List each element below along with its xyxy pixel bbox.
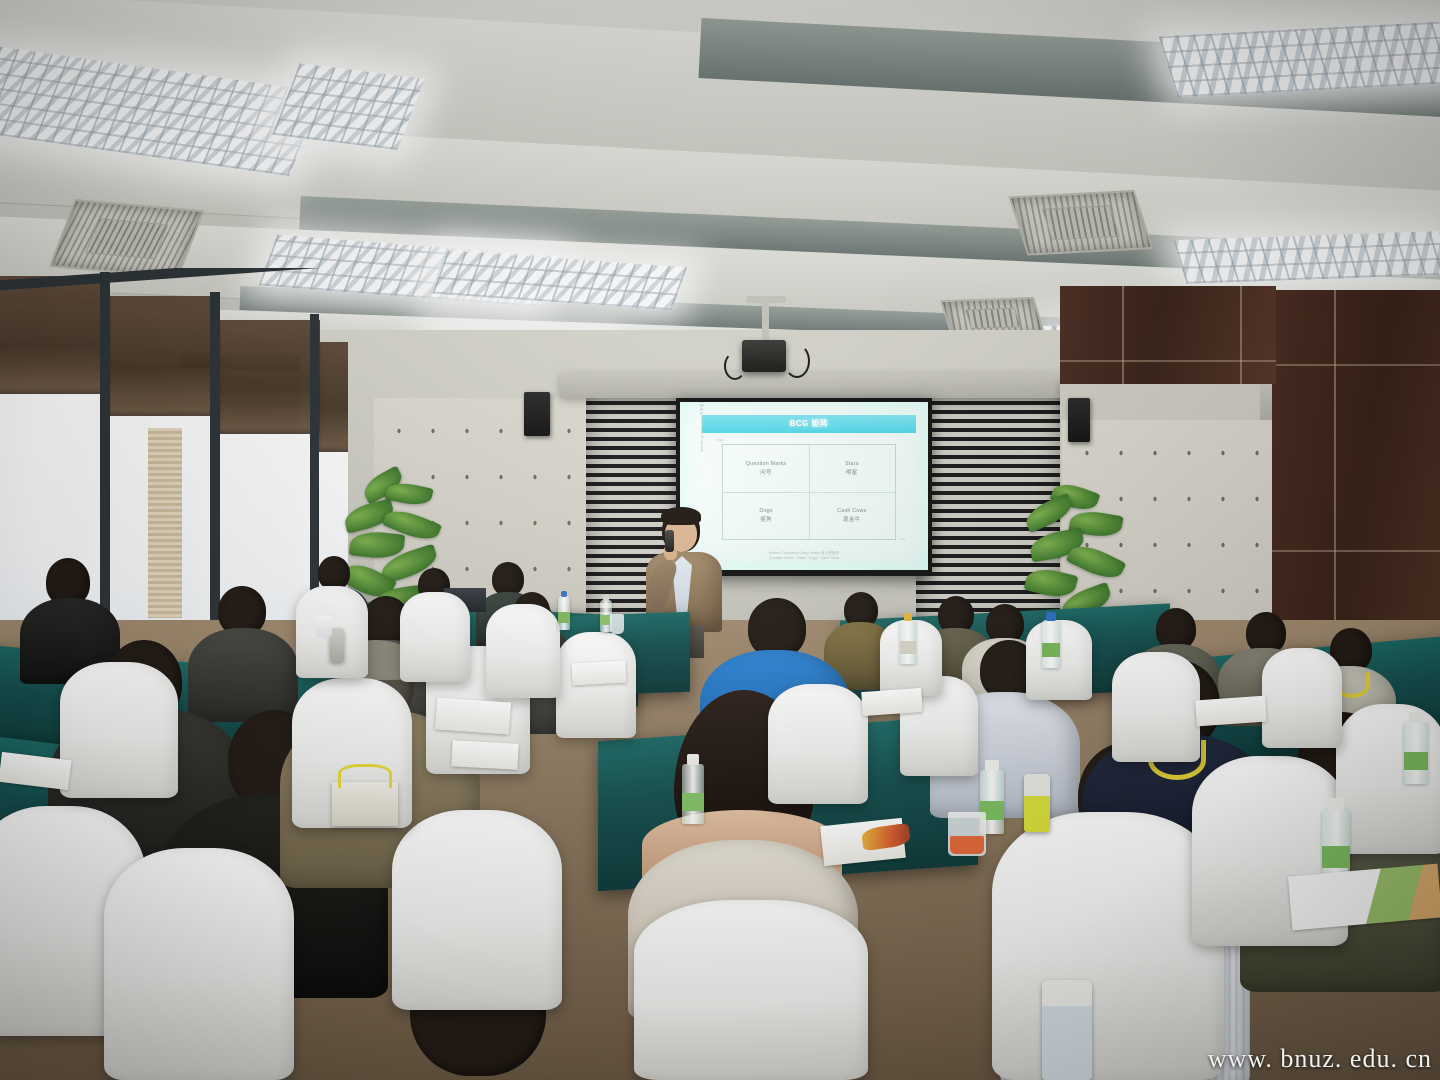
chair-cover [992,812,1224,1080]
ceiling-projector [742,340,786,372]
quadrant-dogs: Dogs 瘦狗 [723,492,809,539]
thermos-flask [330,628,344,662]
chair-cover [1112,652,1200,762]
slide-tick-low: Low [898,536,905,541]
window-roller-blind [0,276,108,394]
presenter-hair [661,507,701,525]
window-roller-blind [318,342,348,452]
quadrant-label-zh: 现金牛 [843,515,860,523]
chair-cover [104,848,294,1080]
window-roller-blind [218,320,320,434]
ceiling-light-fixture [1173,231,1440,284]
projector-cable [724,352,746,380]
bottle-label [682,793,704,811]
chair-cover [486,604,560,698]
quadrant-label-en: Stars [845,461,859,467]
ceiling-light-fixture [272,63,424,150]
quadrant-label-zh: 明星 [846,468,858,476]
quadrant-question-marks: Question Marks 问号 [723,445,809,492]
wood-wall-panel [1060,286,1276,384]
slide-axis-y-label: Market growth rate 市场增长率 [700,402,705,452]
handout-paper [451,740,518,769]
bottle-label [1404,752,1428,771]
slide-tick-high: High [716,437,724,442]
quadrant-cash-cows: Cash Cows 现金牛 [809,492,895,539]
slide-title-bar: BCG 矩阵 [702,415,915,433]
quadrant-label-en: Cash Cows [837,508,866,514]
drinking-cup [316,616,332,638]
handheld-microphone [665,530,674,552]
chair-cover [400,592,470,682]
bottle-cap [687,754,699,765]
water-bottle [900,620,916,664]
air-vent-diffuser [49,199,205,278]
bottle-cap [1328,798,1344,811]
window-roller-blind [108,296,218,416]
chair-cover [60,662,178,798]
bottle-cap [561,591,568,597]
plant-leaf [1024,564,1079,601]
quadrant-label-en: Question Marks [746,461,787,467]
tote-bag [332,782,398,826]
water-bottle [558,596,570,630]
attendee-head [492,562,524,596]
water-bottle [1404,722,1428,784]
bottle-label [900,641,916,654]
watermark: www. bnuz. edu. cn [1208,1044,1432,1074]
handout-paper [861,688,923,716]
water-bottle [682,764,704,824]
tote-bag-handle [338,764,392,788]
handout-paper [1195,696,1267,727]
wall-soffit [560,372,1080,398]
projector-mount-pole [762,300,769,342]
thermos-flask [1024,774,1050,832]
bottle-label [558,612,570,622]
bottle-cap [904,613,913,621]
quadrant-label-en: Dogs [759,508,772,514]
bottle-cap [1409,712,1422,723]
attendee-head [748,598,806,658]
slide-title: BCG 矩阵 [789,418,828,429]
wall-speaker-right [1068,398,1090,442]
quadrant-stars: Stars 明星 [809,445,895,492]
chair-cover [556,632,636,738]
air-vent-diffuser [1008,190,1153,256]
bottle-cap [603,595,610,601]
chair-cover [1262,648,1342,748]
drinking-cup [610,614,624,634]
quadrant-label-zh: 瘦狗 [760,515,772,523]
chair-cover [634,900,868,1080]
handout-paper [435,697,511,734]
bottle-cap [1046,612,1056,621]
attendee-head [318,556,350,590]
handout-paper [571,661,626,686]
water-bottle [1042,620,1060,668]
thermos-flask [1042,980,1092,1080]
bottle-label [1322,846,1350,868]
window-venetian-blind [148,428,182,618]
wall-speaker-left [524,392,550,436]
chair-cover [768,684,868,804]
chair-cover [392,810,562,1010]
projector-mount-plate [746,296,786,303]
quadrant-label-zh: 问号 [760,468,772,476]
projector-cable [784,344,810,378]
bcg-matrix-grid: Question Marks 问号 Stars 明星 Dogs 瘦狗 Cash … [722,444,896,540]
cup-juice [950,836,984,854]
bottle-label [1042,643,1060,657]
photo-scene: BCG 矩阵 Market growth rate 市场增长率 High Low… [0,0,1440,1080]
bottle-cap [985,760,998,772]
